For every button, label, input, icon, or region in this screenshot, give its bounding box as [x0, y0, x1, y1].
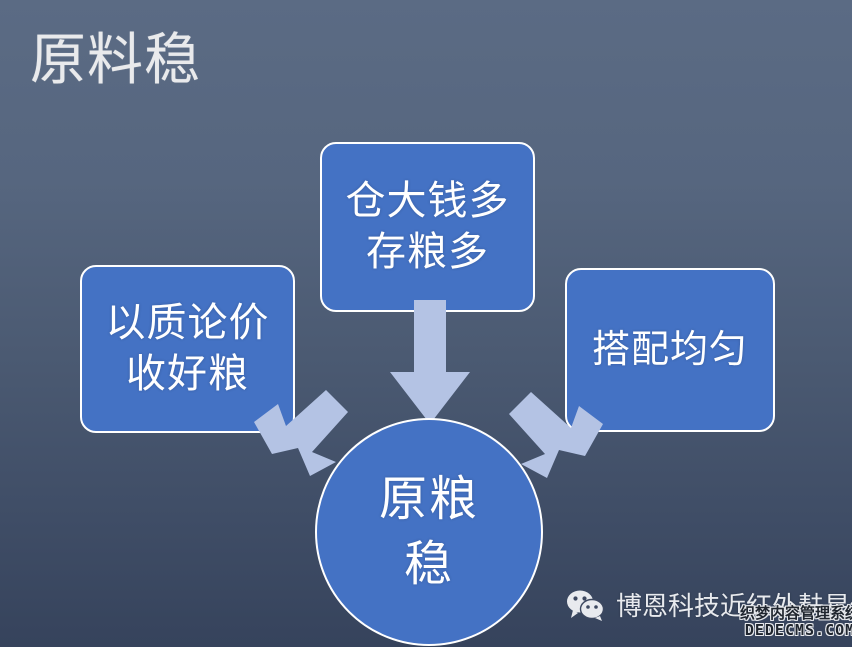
dedecms-watermark-cn: 织梦内容管理系统 [740, 606, 852, 621]
center-node-line-2: 稳 [404, 532, 454, 597]
wechat-icon [566, 589, 606, 621]
dedecms-watermark-en: DEDECMS.COM [740, 623, 852, 638]
node-box-top[interactable]: 仓大钱多 存粮多 [320, 142, 535, 312]
center-node-line-1: 原粮 [379, 467, 479, 532]
node-box-left-line-1: 以质论价 [106, 298, 270, 349]
dedecms-watermark: 织梦内容管理系统 DEDECMS.COM [740, 606, 852, 639]
center-node-circle[interactable]: 原粮 稳 [315, 418, 543, 646]
node-box-top-line-2: 存粮多 [366, 227, 489, 278]
page-title: 原料稳 [30, 28, 201, 92]
node-box-right-line-1: 搭配均匀 [592, 326, 748, 375]
slide-canvas: 原料稳 仓大钱多 存粮多 以质论价 收好粮 搭配均匀 原粮 稳 [0, 0, 852, 647]
arrow-down-icon [388, 300, 472, 426]
node-box-top-line-1: 仓大钱多 [346, 176, 510, 227]
node-box-left-line-2: 收好粮 [126, 349, 249, 400]
